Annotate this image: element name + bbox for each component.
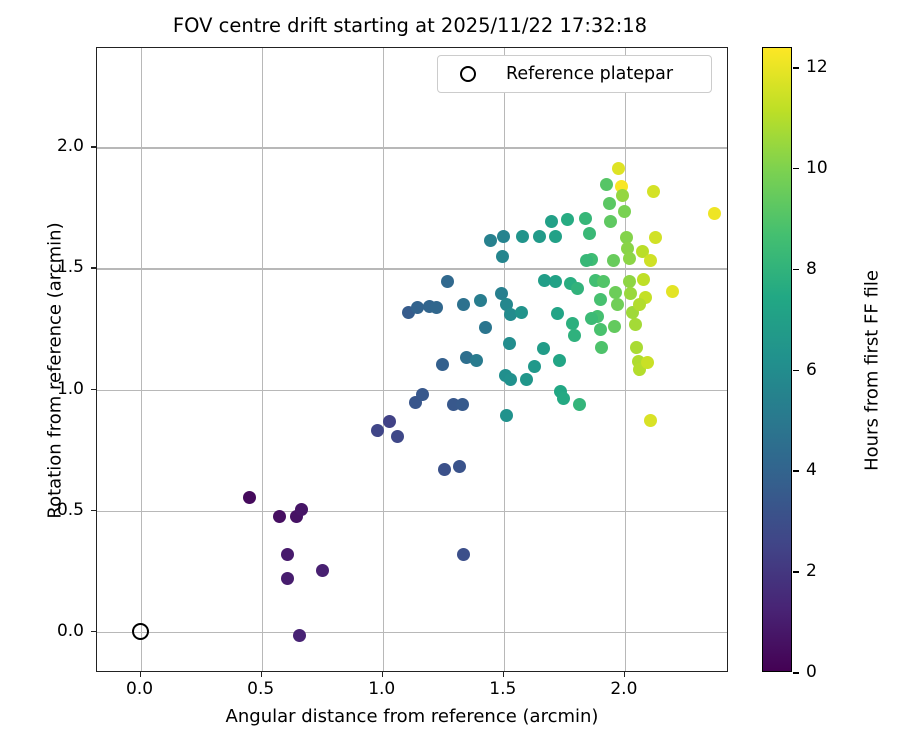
- scatter-point: [594, 293, 607, 306]
- scatter-point: [438, 463, 451, 476]
- scatter-point: [474, 294, 487, 307]
- scatter-point: [600, 178, 613, 191]
- x-tick-label: 0.5: [247, 679, 274, 699]
- y-tick-mark: [91, 389, 96, 391]
- legend-item-label: Reference platepar: [506, 64, 673, 84]
- scatter-point: [441, 275, 454, 288]
- scatter-point: [484, 234, 497, 247]
- x-tick-label: 0.0: [126, 679, 153, 699]
- colorbar-tick-label: 4: [806, 460, 817, 480]
- colorbar-tick-label: 12: [806, 57, 828, 77]
- scatter-point: [630, 341, 643, 354]
- scatter-point: [607, 254, 620, 267]
- x-tick-mark: [503, 672, 505, 677]
- scatter-point: [604, 215, 617, 228]
- scatter-point: [295, 503, 308, 516]
- gridline-vertical: [262, 48, 263, 671]
- scatter-point: [583, 227, 596, 240]
- colorbar-tick-label: 0: [806, 662, 817, 682]
- scatter-point: [500, 409, 513, 422]
- scatter-point: [456, 398, 469, 411]
- legend: Reference platepar: [437, 55, 712, 93]
- colorbar-tick-mark: [793, 269, 799, 271]
- x-tick-mark: [261, 672, 263, 677]
- scatter-point: [612, 162, 625, 175]
- scatter-point: [538, 274, 551, 287]
- y-tick-mark: [91, 631, 96, 633]
- scatter-point: [293, 629, 306, 642]
- colorbar: [762, 47, 792, 672]
- scatter-point: [371, 424, 384, 437]
- scatter-point: [566, 317, 579, 330]
- colorbar-tick-label: 10: [806, 158, 828, 178]
- scatter-point: [545, 215, 558, 228]
- scatter-point: [557, 392, 570, 405]
- scatter-point: [515, 306, 528, 319]
- scatter-point: [383, 415, 396, 428]
- scatter-point: [573, 398, 586, 411]
- scatter-point: [644, 254, 657, 267]
- gridline-horizontal: [97, 147, 727, 148]
- scatter-point: [436, 358, 449, 371]
- colorbar-tick-label: 8: [806, 259, 817, 279]
- gridline-vertical: [625, 48, 626, 671]
- y-axis-label: Rotation from reference (arcmin): [45, 51, 66, 691]
- scatter-point: [585, 312, 598, 325]
- scatter-point: [273, 510, 286, 523]
- scatter-point: [430, 301, 443, 314]
- colorbar-tick-label: 6: [806, 360, 817, 380]
- scatter-point: [616, 189, 629, 202]
- scatter-point: [609, 286, 622, 299]
- x-tick-label: 2.0: [610, 679, 637, 699]
- scatter-point: [470, 354, 483, 367]
- colorbar-tick-label: 2: [806, 561, 817, 581]
- legend-circle-icon: [460, 66, 476, 82]
- x-tick-label: 1.5: [489, 679, 516, 699]
- scatter-point: [549, 230, 562, 243]
- scatter-point: [603, 197, 616, 210]
- scatter-point: [391, 430, 404, 443]
- scatter-point: [579, 212, 592, 225]
- scatter-point: [611, 298, 624, 311]
- scatter-point: [637, 273, 650, 286]
- scatter-point: [629, 318, 642, 331]
- scatter-point: [666, 285, 679, 298]
- scatter-point: [597, 275, 610, 288]
- scatter-point: [516, 230, 529, 243]
- scatter-point: [497, 230, 510, 243]
- scatter-point: [479, 321, 492, 334]
- scatter-point: [571, 282, 584, 295]
- scatter-point: [649, 231, 662, 244]
- scatter-point: [281, 548, 294, 561]
- y-tick-mark: [91, 267, 96, 269]
- scatter-point: [641, 356, 654, 369]
- scatter-point: [504, 373, 517, 386]
- plot-area: [96, 47, 728, 672]
- x-tick-mark: [382, 672, 384, 677]
- scatter-point: [416, 388, 429, 401]
- chart-figure: FOV centre drift starting at 2025/11/22 …: [0, 0, 900, 750]
- scatter-point: [647, 185, 660, 198]
- gridline-vertical: [383, 48, 384, 671]
- scatter-point: [561, 213, 574, 226]
- scatter-point: [608, 320, 621, 333]
- scatter-point: [533, 230, 546, 243]
- scatter-point: [708, 207, 721, 220]
- y-tick-mark: [91, 510, 96, 512]
- scatter-point: [537, 342, 550, 355]
- scatter-point: [594, 323, 607, 336]
- scatter-point: [623, 252, 636, 265]
- x-tick-label: 1.0: [368, 679, 395, 699]
- gridline-vertical: [141, 48, 142, 671]
- scatter-point: [457, 298, 470, 311]
- colorbar-tick-mark: [793, 370, 799, 372]
- gridline-horizontal: [97, 390, 727, 391]
- colorbar-tick-mark: [793, 470, 799, 472]
- scatter-point: [595, 341, 608, 354]
- scatter-point: [633, 298, 646, 311]
- scatter-point: [644, 414, 657, 427]
- scatter-point: [618, 205, 631, 218]
- scatter-point: [568, 329, 581, 342]
- gridline-horizontal: [97, 268, 727, 269]
- gridline-vertical: [504, 48, 505, 671]
- page-title: FOV centre drift starting at 2025/11/22 …: [0, 14, 820, 37]
- colorbar-tick-mark: [793, 571, 799, 573]
- colorbar-tick-mark: [793, 168, 799, 170]
- scatter-point: [281, 572, 294, 585]
- scatter-point: [520, 373, 533, 386]
- x-axis-label: Angular distance from reference (arcmin): [96, 706, 728, 727]
- scatter-point: [496, 250, 509, 263]
- colorbar-tick-mark: [793, 672, 799, 674]
- scatter-point: [243, 491, 256, 504]
- gridline-horizontal: [97, 511, 727, 512]
- scatter-point: [316, 564, 329, 577]
- colorbar-tick-mark: [793, 67, 799, 69]
- x-tick-mark: [140, 672, 142, 677]
- gridline-horizontal: [97, 632, 727, 633]
- scatter-point: [528, 360, 541, 373]
- scatter-point: [503, 337, 516, 350]
- scatter-point: [457, 548, 470, 561]
- scatter-point: [553, 354, 566, 367]
- y-tick-mark: [91, 146, 96, 148]
- x-tick-mark: [624, 672, 626, 677]
- scatter-point: [624, 287, 637, 300]
- scatter-point: [453, 460, 466, 473]
- scatter-point: [551, 307, 564, 320]
- colorbar-label: Hours from first FF file: [862, 51, 883, 691]
- reference-platepar-marker: [132, 623, 149, 640]
